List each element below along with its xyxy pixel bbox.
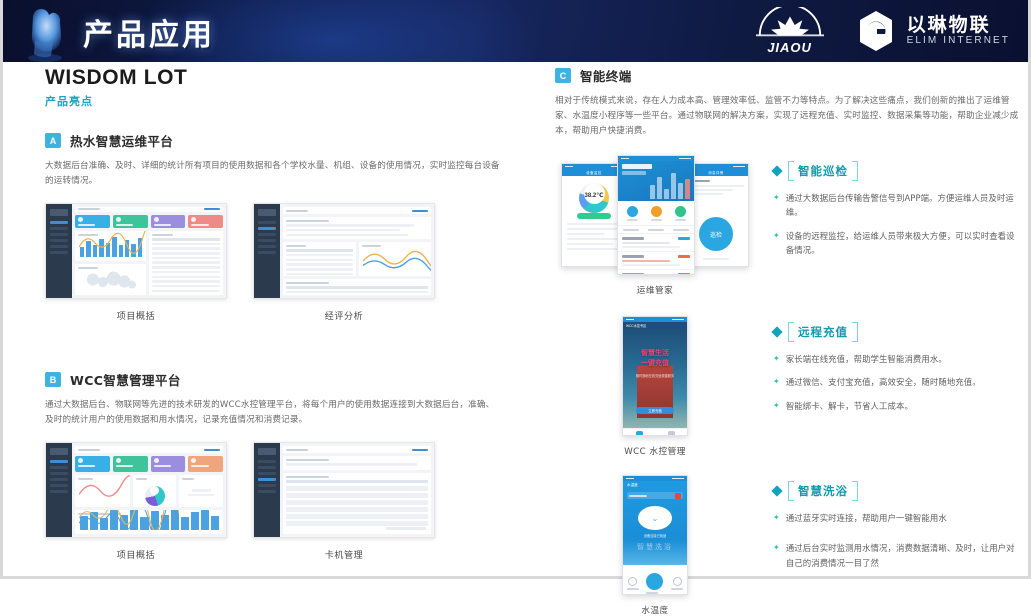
screenshot-item[interactable]: 项目概括 <box>45 442 227 561</box>
section-c-badge: C <box>555 68 571 83</box>
bullet-item: ✦智能绑卡、解卡，节省人工成本。 <box>773 399 1020 413</box>
bullet-item: ✦通过后台实时监测用水情况，消费数据清晰、及时，让用户对自己的消费情况一目了然 <box>773 541 1020 570</box>
screenshot-frame <box>45 203 227 299</box>
bullet-item: ✦通过微信、支付宝充值，高效安全，随时随地充值。 <box>773 375 1020 389</box>
app-content <box>280 204 434 298</box>
line-chart-panel <box>359 242 432 276</box>
status-pill <box>577 213 611 219</box>
feature-title-row: 智能巡检 <box>773 161 1020 181</box>
world-map-panel <box>75 264 146 295</box>
phone-mockups: 设备监控 38.2℃ <box>555 155 755 275</box>
bullet-text: 设备的远程监控，给运维人员带来极大方便，可以实时查看设备情况。 <box>786 229 1020 258</box>
phone-hero-banner <box>618 161 694 201</box>
app-sidebar <box>46 204 72 298</box>
screenshot-caption: 卡机管理 <box>253 548 435 561</box>
section-a-head: A 热水智慧运维平台 <box>45 131 500 150</box>
search-filter-panel <box>283 456 431 470</box>
phone-screen-wcc: WCC水控专区 智慧生活 一键充值 随时随地在线充值便捷服务 立即充值 <box>622 316 688 436</box>
bullet-marker-icon: ✦ <box>773 541 780 570</box>
quick-actions[interactable] <box>618 201 694 225</box>
device-thumb-icon <box>675 493 681 499</box>
list-item[interactable] <box>618 252 694 270</box>
feature-bullets: ✦通过大数据后台传输告警信号到APP端。方便运维人员及时运维。 ✦设备的远程监控… <box>773 191 1020 257</box>
feature-text-inspection: 智能巡检 ✦通过大数据后台传输告警信号到APP端。方便运维人员及时运维。 ✦设备… <box>773 155 1020 266</box>
filter-panel <box>283 217 431 239</box>
app-sidebar <box>254 204 280 298</box>
screenshot-frame <box>45 442 227 538</box>
action-power-button[interactable] <box>646 573 663 594</box>
bullet-item: ✦设备的远程监控，给运维人员带来极大方便，可以实时查看设备情况。 <box>773 229 1020 258</box>
bullet-marker-icon: ✦ <box>773 375 780 389</box>
fist-icon <box>17 2 73 62</box>
section-a-desc: 大数据后台准确、及时、详细的统计所有项目的使用数据和各个学校水量、机组、设备的使… <box>45 159 500 189</box>
feature-title: 远程充值 <box>788 322 858 342</box>
diamond-icon <box>771 485 782 496</box>
phone-nav-title: 水温度 <box>623 481 687 489</box>
screenshot-item[interactable]: 项目概括 <box>45 203 227 322</box>
section-b-shots: 项目概括 <box>45 442 500 561</box>
page-root: 产品应用 JIAOU 以琳物联 ELIM INTERNET <box>0 0 1031 579</box>
page-header: 产品应用 JIAOU 以琳物联 ELIM INTERNET <box>3 0 1028 62</box>
feature-title-row: 远程充值 <box>773 322 1020 342</box>
left-column: WISDOM LOT 产品亮点 A 热水智慧运维平台 大数据后台准确、及时、详细… <box>45 66 500 561</box>
feature-bullets: ✦家长端在线充值，帮助学生智能消费用水。 ✦通过微信、支付宝充值，高效安全，随时… <box>773 352 1020 413</box>
feature-text-recharge: 远程充值 ✦家长端在线充值，帮助学生智能消费用水。 ✦通过微信、支付宝充值，高效… <box>773 316 1020 422</box>
header-logos: JIAOU 以琳物联 ELIM INTERNET <box>748 7 1010 55</box>
wcc-hero-sub: 随时随地在线充值便捷服务 <box>623 374 687 379</box>
elim-logo: 以琳物联 ELIM INTERNET <box>854 9 1010 53</box>
line-chart-icon <box>363 244 432 272</box>
section-a-shots: 项目概括 <box>45 203 500 322</box>
temp-hero: 水温度 ⌄ 设备连接已就绪 智慧洗浴 <box>623 481 687 565</box>
action-icon-1[interactable] <box>627 206 638 221</box>
section-b-head: B WCC智慧管理平台 <box>45 370 500 389</box>
feature-text-shower: 智慧洗浴 ✦通过蓝牙实时连接，帮助用户一键智能用水 ✦通过后台实时监测用水情况，… <box>773 475 1020 579</box>
pie-panel <box>133 475 177 507</box>
phone-group-ops[interactable]: 设备监控 38.2℃ <box>555 155 755 296</box>
wcc-hero-line2: 一键充值 <box>641 359 669 367</box>
phone-screen-temp: 水温度 ⌄ 设备连接已就绪 智慧洗浴 <box>622 475 688 595</box>
phone-tabbar[interactable] <box>623 428 687 436</box>
bar-chart-panel <box>75 231 146 262</box>
section-b-desc: 通过大数据后台、物联网等先进的技术研发的WCC水控管理平台，将每个用户的使用数据… <box>45 398 500 428</box>
line-overlay-icon <box>79 231 146 258</box>
tab-item[interactable] <box>635 431 644 436</box>
feature-row-inspection: 设备监控 38.2℃ <box>555 155 1020 296</box>
feature-title: 智慧洗浴 <box>788 481 858 501</box>
feature-row-shower: 水温度 ⌄ 设备连接已就绪 智慧洗浴 水温度 <box>555 475 1020 616</box>
bullet-marker-icon: ✦ <box>773 352 780 366</box>
city-illustration-icon <box>650 173 690 199</box>
summary-table-panel <box>283 279 431 295</box>
wcc-hero-line1: 智慧生活 <box>641 349 669 357</box>
app-content <box>280 443 434 537</box>
device-card[interactable] <box>627 492 683 499</box>
screenshot-caption: 项目概括 <box>45 309 227 322</box>
section-a-badge: A <box>45 133 61 148</box>
action-icon-3[interactable] <box>675 206 686 221</box>
bullet-marker-icon: ✦ <box>773 399 780 413</box>
section-a: A 热水智慧运维平台 大数据后台准确、及时、详细的统计所有项目的使用数据和各个学… <box>45 131 500 322</box>
phone-bottom-actions[interactable] <box>623 565 687 595</box>
feature-row-recharge: WCC水控专区 智慧生活 一键充值 随时随地在线充值便捷服务 立即充值 <box>555 316 1020 457</box>
elim-logo-text: 以琳物联 ELIM INTERNET <box>907 16 1010 47</box>
diamond-icon <box>771 326 782 337</box>
bullet-marker-icon: ✦ <box>773 191 780 220</box>
app-sidebar <box>46 443 72 537</box>
feature-title-row: 智慧洗浴 <box>773 481 1020 501</box>
page-title: WISDOM LOT <box>45 66 500 90</box>
jiaou-logo-text: JIAOU <box>748 40 832 55</box>
phone-group-temp[interactable]: 水温度 ⌄ 设备连接已就绪 智慧洗浴 水温度 <box>555 475 755 616</box>
bullet-marker-icon: ✦ <box>773 511 780 525</box>
right-column: C 智能终端 相对于传统模式来说，存在人力成本高、管理效率低、监管不力等特点。为… <box>555 66 1020 616</box>
diamond-icon <box>771 165 782 176</box>
trend-panel <box>75 475 130 507</box>
data-table-panel <box>149 231 223 295</box>
wcc-hero: 智慧生活 一键充值 随时随地在线充值便捷服务 立即充值 <box>623 328 687 428</box>
feature-bullets: ✦通过蓝牙实时连接，帮助用户一键智能用水 ✦通过后台实时监测用水情况，消费数据清… <box>773 511 1020 570</box>
device-table-panel <box>283 473 431 534</box>
inspection-button[interactable]: 巡检 <box>699 217 733 251</box>
section-b-badge: B <box>45 372 61 387</box>
device-status: 设备连接已就绪 <box>623 533 687 538</box>
app-content <box>72 204 226 298</box>
list-item[interactable] <box>618 234 694 252</box>
hero-big-text: 智慧洗浴 <box>623 542 687 552</box>
app-sidebar <box>254 443 280 537</box>
screenshot-item[interactable]: 卡机管理 <box>253 442 435 561</box>
info-panel <box>179 475 223 507</box>
bullet-marker-icon: ✦ <box>773 229 780 258</box>
header-title: 产品应用 <box>83 10 215 54</box>
phone-caption: 水温度 <box>555 604 755 616</box>
screenshot-frame <box>253 442 435 538</box>
stat-cards <box>75 456 223 472</box>
shower-head-icon: ⌄ <box>638 506 672 530</box>
section-c-desc: 相对于传统模式来说，存在人力成本高、管理效率低、监管不力等特点。为了解决这些痛点… <box>555 94 1020 139</box>
section-a-title: 热水智慧运维平台 <box>70 131 173 150</box>
elim-logo-en: ELIM INTERNET <box>907 35 1010 46</box>
section-b: B WCC智慧管理平台 通过大数据后台、物联网等先进的技术研发的WCC水控管理平… <box>45 370 500 561</box>
jiaou-mark-icon <box>748 7 832 41</box>
phone-screen-ops-home <box>617 155 695 275</box>
wcc-hero-title: 智慧生活 一键充值 <box>623 348 687 368</box>
filter-bar[interactable] <box>618 225 694 234</box>
combo-line-icon <box>79 510 179 530</box>
feature-title: 智能巡检 <box>788 161 858 181</box>
recharge-button[interactable]: 立即充值 <box>636 407 674 414</box>
bullet-text: 通过蓝牙实时连接，帮助用户一键智能用水 <box>786 511 947 525</box>
section-c-title: 智能终端 <box>580 66 632 85</box>
phone-group-wcc[interactable]: WCC水控专区 智慧生活 一键充值 随时随地在线充值便捷服务 立即充值 <box>555 316 755 457</box>
tab-item[interactable] <box>667 431 676 436</box>
screenshot-caption: 项目概括 <box>45 548 227 561</box>
elim-logo-cn: 以琳物联 <box>907 16 1010 36</box>
pie-chart-icon <box>145 486 165 506</box>
section-c-head: C 智能终端 <box>555 66 1020 85</box>
bullet-text: 智能绑卡、解卡，节省人工成本。 <box>786 399 913 413</box>
stat-cards <box>75 215 223 228</box>
elim-mark-icon <box>854 9 898 53</box>
bullet-text: 通过微信、支付宝充值，高效安全，随时随地充值。 <box>786 375 981 389</box>
action-icon-2[interactable] <box>651 206 662 221</box>
bullet-text: 通过后台实时监测用水情况，消费数据清晰、及时，让用户对自己的消费情况一目了然 <box>786 541 1020 570</box>
phone-caption: 运维管家 <box>555 284 755 296</box>
trend-line-icon <box>79 475 130 503</box>
combo-chart-panel <box>75 510 223 534</box>
section-b-title: WCC智慧管理平台 <box>70 370 181 389</box>
jiaou-logo: JIAOU <box>748 7 832 55</box>
screenshot-frame <box>253 203 435 299</box>
bullet-item: ✦家长端在线充值，帮助学生智能消费用水。 <box>773 352 1020 366</box>
record-table-panel <box>283 242 356 276</box>
list-item[interactable] <box>618 270 694 275</box>
phone-caption: WCC 水控管理 <box>555 445 755 457</box>
bullet-item: ✦通过蓝牙实时连接，帮助用户一键智能用水 <box>773 511 1020 525</box>
bullet-text: 通过大数据后台传输告警信号到APP端。方便运维人员及时运维。 <box>786 191 1020 220</box>
screenshot-caption: 经评分析 <box>253 309 435 322</box>
page-subtitle: 产品亮点 <box>45 93 500 109</box>
bullet-text: 家长端在线充值，帮助学生智能消费用水。 <box>786 352 947 366</box>
app-content <box>72 443 226 537</box>
screenshot-item[interactable]: 经评分析 <box>253 203 435 322</box>
bullet-item: ✦通过大数据后台传输告警信号到APP端。方便运维人员及时运维。 <box>773 191 1020 220</box>
